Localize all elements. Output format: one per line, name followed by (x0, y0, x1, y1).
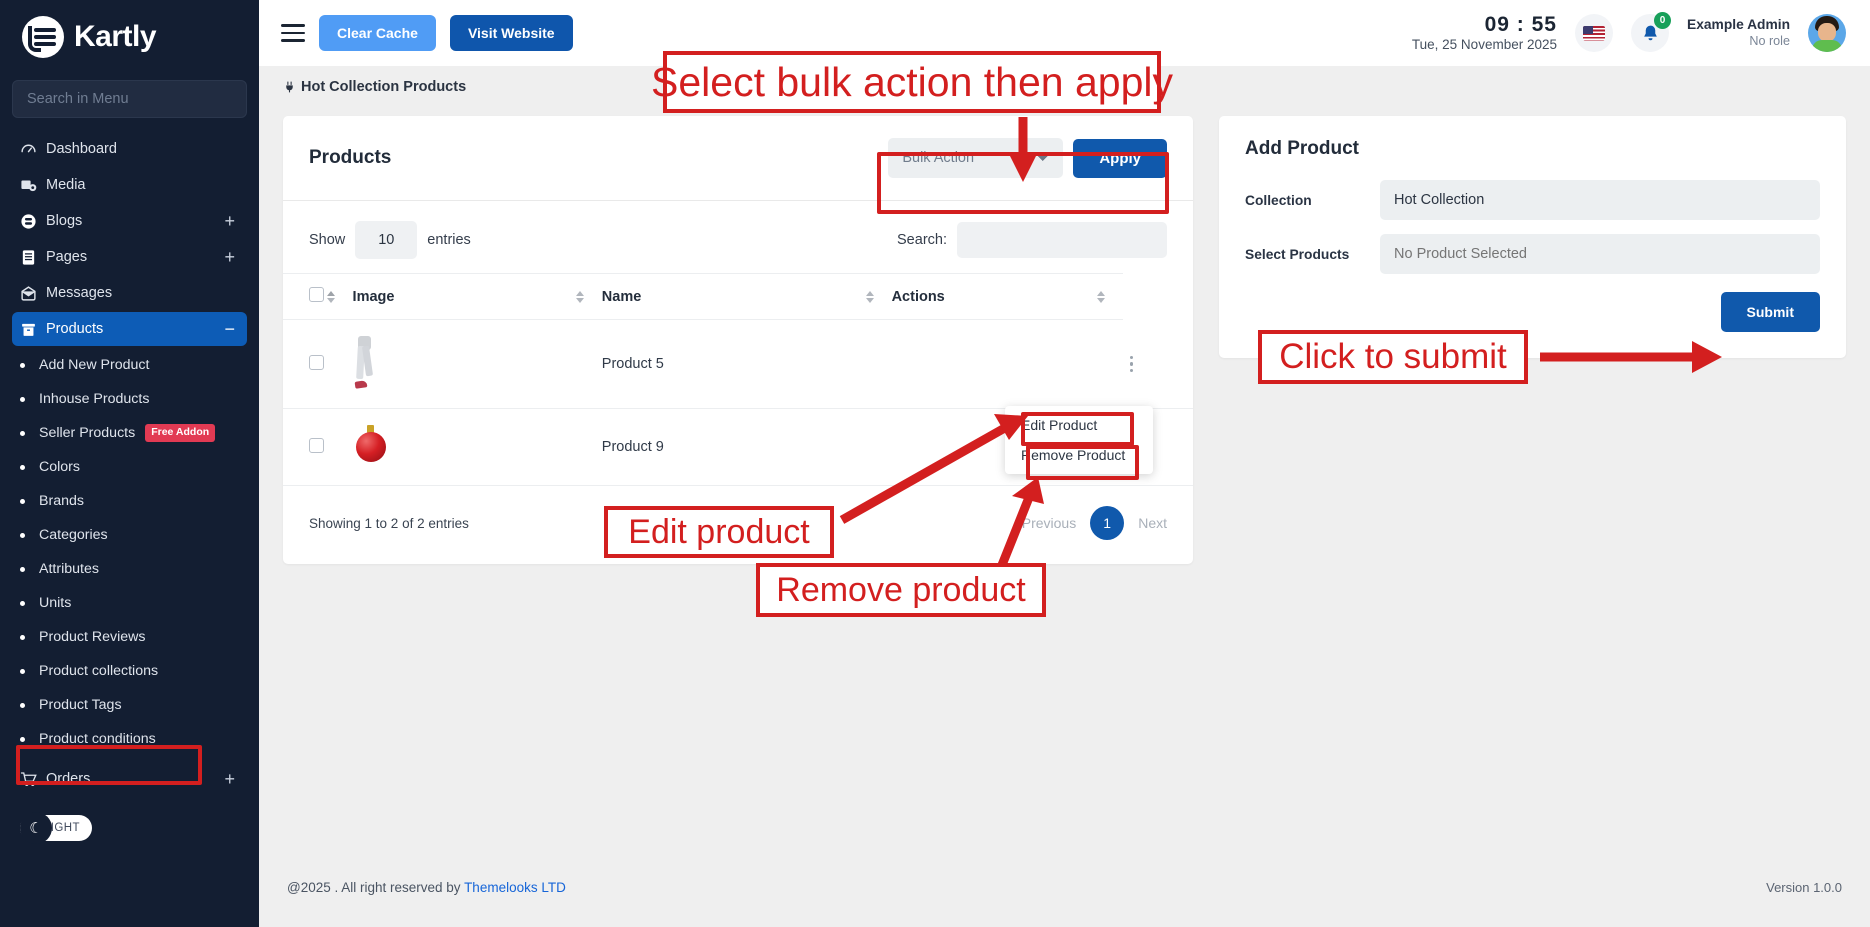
products-card-title: Products (309, 147, 391, 169)
row-actions-cell (892, 320, 1124, 409)
sidebar-item-label: Pages (46, 249, 224, 265)
apply-button[interactable]: Apply (1073, 139, 1167, 178)
bulk-action-area: Bulk Action Apply (888, 138, 1167, 178)
user-info[interactable]: Example Admin No role (1687, 17, 1790, 49)
pagination: Previous 1 Next (1022, 506, 1167, 540)
sidebar-item-orders[interactable]: Orders + (12, 762, 247, 796)
collection-row: Collection (1245, 180, 1820, 220)
sidebar-search[interactable] (12, 80, 247, 118)
brand-name: Kartly (74, 20, 156, 54)
products-icon (20, 321, 46, 338)
sidebar-item-label: Orders (46, 771, 224, 787)
add-product-title: Add Product (1245, 138, 1820, 160)
sidebar-subitem-inhouse-products[interactable]: Inhouse Products (12, 382, 247, 416)
sidebar-subitem-product-conditions[interactable]: Product conditions (12, 722, 247, 756)
sidebar-subitem-colors[interactable]: Colors (12, 450, 247, 484)
page-title-text: Hot Collection Products (301, 79, 466, 95)
column-image[interactable]: Image (353, 274, 602, 320)
sidebar-item-dashboard[interactable]: Dashboard (12, 132, 247, 166)
sidebar-item-label: Products (46, 321, 224, 337)
sidebar-subitem-units[interactable]: Units (12, 586, 247, 620)
clock-date: Tue, 25 November 2025 (1412, 37, 1557, 53)
sidebar-item-pages[interactable]: Pages + (12, 240, 247, 274)
search-label: Search: (897, 232, 947, 248)
page-title: Hot Collection Products (283, 79, 466, 95)
avatar[interactable] (1808, 14, 1846, 52)
theme-toggle[interactable]: ☾ LIGHT (20, 815, 92, 841)
media-icon (20, 177, 46, 194)
table-header-row: Image Name Actions (283, 274, 1193, 320)
row-actions-dropdown: Edit Product Remove Product (1005, 406, 1153, 474)
row-name-cell: Product 9 (602, 409, 892, 486)
sidebar-item-media[interactable]: Media (12, 168, 247, 202)
row-checkbox[interactable] (309, 438, 324, 453)
column-name[interactable]: Name (602, 274, 892, 320)
collection-label: Collection (1245, 193, 1380, 208)
message-icon (20, 285, 46, 302)
footer-copyright-text: @2025 . All right reserved by (287, 880, 464, 895)
pagination-page-1[interactable]: 1 (1090, 506, 1124, 540)
app-root: Kartly Dashboard Media (0, 0, 1870, 927)
pagination-next[interactable]: Next (1138, 515, 1167, 531)
sidebar-subitem-product-reviews[interactable]: Product Reviews (12, 620, 247, 654)
collection-field[interactable] (1380, 180, 1820, 220)
entries-label: entries (427, 232, 471, 248)
bullet-icon (20, 465, 25, 470)
language-selector[interactable] (1575, 14, 1613, 52)
table-search-input[interactable] (957, 222, 1167, 258)
column-header-label: Image (353, 289, 395, 305)
bullet-icon (20, 533, 25, 538)
bullet-icon (20, 635, 25, 640)
sidebar-subitem-seller-products[interactable]: Seller Products Free Addon (12, 416, 247, 450)
entries-input[interactable] (355, 221, 417, 259)
topbar: Clear Cache Visit Website 09 : 55 Tue, 2… (259, 0, 1870, 66)
expand-icon[interactable]: + (224, 248, 235, 266)
column-header-label: Name (602, 289, 642, 305)
table-header: Image Name Actions (283, 274, 1193, 320)
sidebar-item-label: Dashboard (46, 141, 235, 157)
sidebar-subitem-categories[interactable]: Categories (12, 518, 247, 552)
table-search: Search: (897, 222, 1167, 258)
sidebar-subitem-product-tags[interactable]: Product Tags (12, 688, 247, 722)
submit-row: Submit (1245, 292, 1820, 332)
sidebar-item-label: Blogs (46, 213, 224, 229)
footer-company-link[interactable]: Themelooks LTD (464, 880, 566, 895)
sidebar-subitem-label: Product Tags (39, 697, 122, 713)
row-kebab-cell[interactable] (1123, 320, 1193, 409)
sort-icon[interactable] (327, 291, 335, 303)
pagination-previous[interactable]: Previous (1022, 515, 1076, 531)
bullet-icon (20, 567, 25, 572)
sort-icon[interactable] (1097, 291, 1105, 303)
bulk-action-select[interactable]: Bulk Action (888, 138, 1063, 178)
sidebar-subitem-label: Product Reviews (39, 629, 145, 645)
sidebar-item-label: Media (46, 177, 235, 193)
add-product-body: Add Product Collection Select Products S… (1219, 116, 1846, 358)
sidebar-subitem-label: Units (39, 595, 71, 611)
footer-version: Version 1.0.0 (1766, 880, 1842, 895)
column-header-label: Actions (892, 289, 945, 305)
notification-count-badge: 0 (1654, 12, 1671, 29)
select-products-label: Select Products (1245, 247, 1380, 262)
bullet-icon (20, 499, 25, 504)
row-image-cell (353, 320, 602, 409)
plug-icon (283, 80, 296, 94)
sidebar-subitem-add-new-product[interactable]: Add New Product (12, 348, 247, 382)
sidebar-subitem-label: Product conditions (39, 731, 156, 747)
search-input[interactable] (27, 91, 232, 107)
clear-cache-button[interactable]: Clear Cache (319, 15, 436, 51)
sidebar-subitem-label: Seller Products (39, 425, 135, 441)
select-products-row: Select Products (1245, 234, 1820, 274)
footer-copyright: @2025 . All right reserved by Themelooks… (287, 880, 566, 895)
bullet-icon (20, 363, 25, 368)
row-image-cell (353, 409, 602, 486)
row-checkbox-cell[interactable] (283, 320, 353, 409)
showing-entries-text: Showing 1 to 2 of 2 entries (309, 516, 469, 531)
sort-icon[interactable] (866, 291, 874, 303)
sidebar-nav: Dashboard Media Blogs + Pages (0, 128, 259, 796)
show-label: Show (309, 232, 345, 248)
sidebar-item-blogs[interactable]: Blogs + (12, 204, 247, 238)
gauge-icon (20, 141, 46, 158)
sidebar-subitem-label: Product collections (39, 663, 158, 679)
content: Products Bulk Action Apply Show entries (259, 108, 1870, 564)
sidebar: Kartly Dashboard Media (0, 0, 259, 927)
select-products-field[interactable] (1380, 234, 1820, 274)
sidebar-subitem-attributes[interactable]: Attributes (12, 552, 247, 586)
bullet-icon (20, 703, 25, 708)
table-tools: Show entries Search: (283, 201, 1193, 273)
bullet-icon (20, 737, 25, 742)
bullet-icon (20, 669, 25, 674)
expand-icon[interactable]: + (224, 770, 235, 788)
topbar-right: 09 : 55 Tue, 25 November 2025 0 Example … (1412, 13, 1846, 53)
blog-icon (20, 213, 46, 230)
breadcrumb: Hot Collection Products (259, 66, 1870, 108)
row-checkbox-cell[interactable] (283, 409, 353, 486)
add-product-card: Add Product Collection Select Products S… (1219, 116, 1846, 358)
dropdown-item-remove-product[interactable]: Remove Product (1005, 440, 1153, 470)
ornament-thumbnail (353, 425, 387, 465)
user-role: No role (1687, 34, 1790, 49)
clock-time: 09 : 55 (1412, 13, 1557, 37)
pants-thumbnail (353, 336, 375, 388)
sidebar-subitem-label: Attributes (39, 561, 99, 577)
sidebar-item-products[interactable]: Products − (12, 312, 247, 346)
bullet-icon (20, 397, 25, 402)
collapse-icon[interactable]: − (224, 320, 235, 338)
clock: 09 : 55 Tue, 25 November 2025 (1412, 13, 1557, 53)
sidebar-item-label: Messages (46, 285, 235, 301)
show-entries: Show entries (309, 221, 471, 259)
footer: @2025 . All right reserved by Themelooks… (259, 847, 1870, 927)
sidebar-subitem-label: Add New Product (39, 357, 149, 373)
sidebar-subitem-brands[interactable]: Brands (12, 484, 247, 518)
free-addon-badge: Free Addon (145, 424, 215, 441)
products-card: Products Bulk Action Apply Show entries (283, 116, 1193, 564)
moon-icon: ☾ (20, 812, 52, 844)
bullet-icon (20, 431, 25, 436)
kartly-logo-icon (22, 16, 64, 58)
select-all-checkbox[interactable] (309, 287, 324, 302)
sort-icon[interactable] (576, 291, 584, 303)
products-card-header: Products Bulk Action Apply (283, 116, 1193, 201)
table-footer: Showing 1 to 2 of 2 entries Previous 1 N… (283, 486, 1193, 564)
row-checkbox[interactable] (309, 355, 324, 370)
us-flag-icon (1583, 26, 1605, 41)
sidebar-subitem-label: Categories (39, 527, 108, 543)
sidebar-subitem-label: Inhouse Products (39, 391, 149, 407)
submit-button[interactable]: Submit (1721, 292, 1820, 332)
sidebar-item-messages[interactable]: Messages (12, 276, 247, 310)
expand-icon[interactable]: + (224, 212, 235, 230)
column-actions[interactable]: Actions (892, 274, 1124, 320)
sidebar-subitem-label: Brands (39, 493, 84, 509)
dropdown-item-edit-product[interactable]: Edit Product (1005, 410, 1153, 440)
kebab-icon[interactable] (1123, 356, 1139, 373)
hamburger-icon[interactable] (281, 19, 305, 47)
row-name-cell: Product 5 (602, 320, 892, 409)
pages-icon (20, 249, 46, 266)
user-name: Example Admin (1687, 17, 1790, 34)
sidebar-subitem-label: Colors (39, 459, 80, 475)
bullet-icon (20, 601, 25, 606)
table-row: Product 5 (283, 320, 1193, 409)
sidebar-subitem-product-collections[interactable]: Product collections (12, 654, 247, 688)
column-select-all[interactable] (283, 274, 353, 320)
brand[interactable]: Kartly (0, 0, 259, 72)
notification-button[interactable]: 0 (1631, 14, 1669, 52)
visit-website-button[interactable]: Visit Website (450, 15, 573, 51)
cart-icon (20, 770, 46, 788)
